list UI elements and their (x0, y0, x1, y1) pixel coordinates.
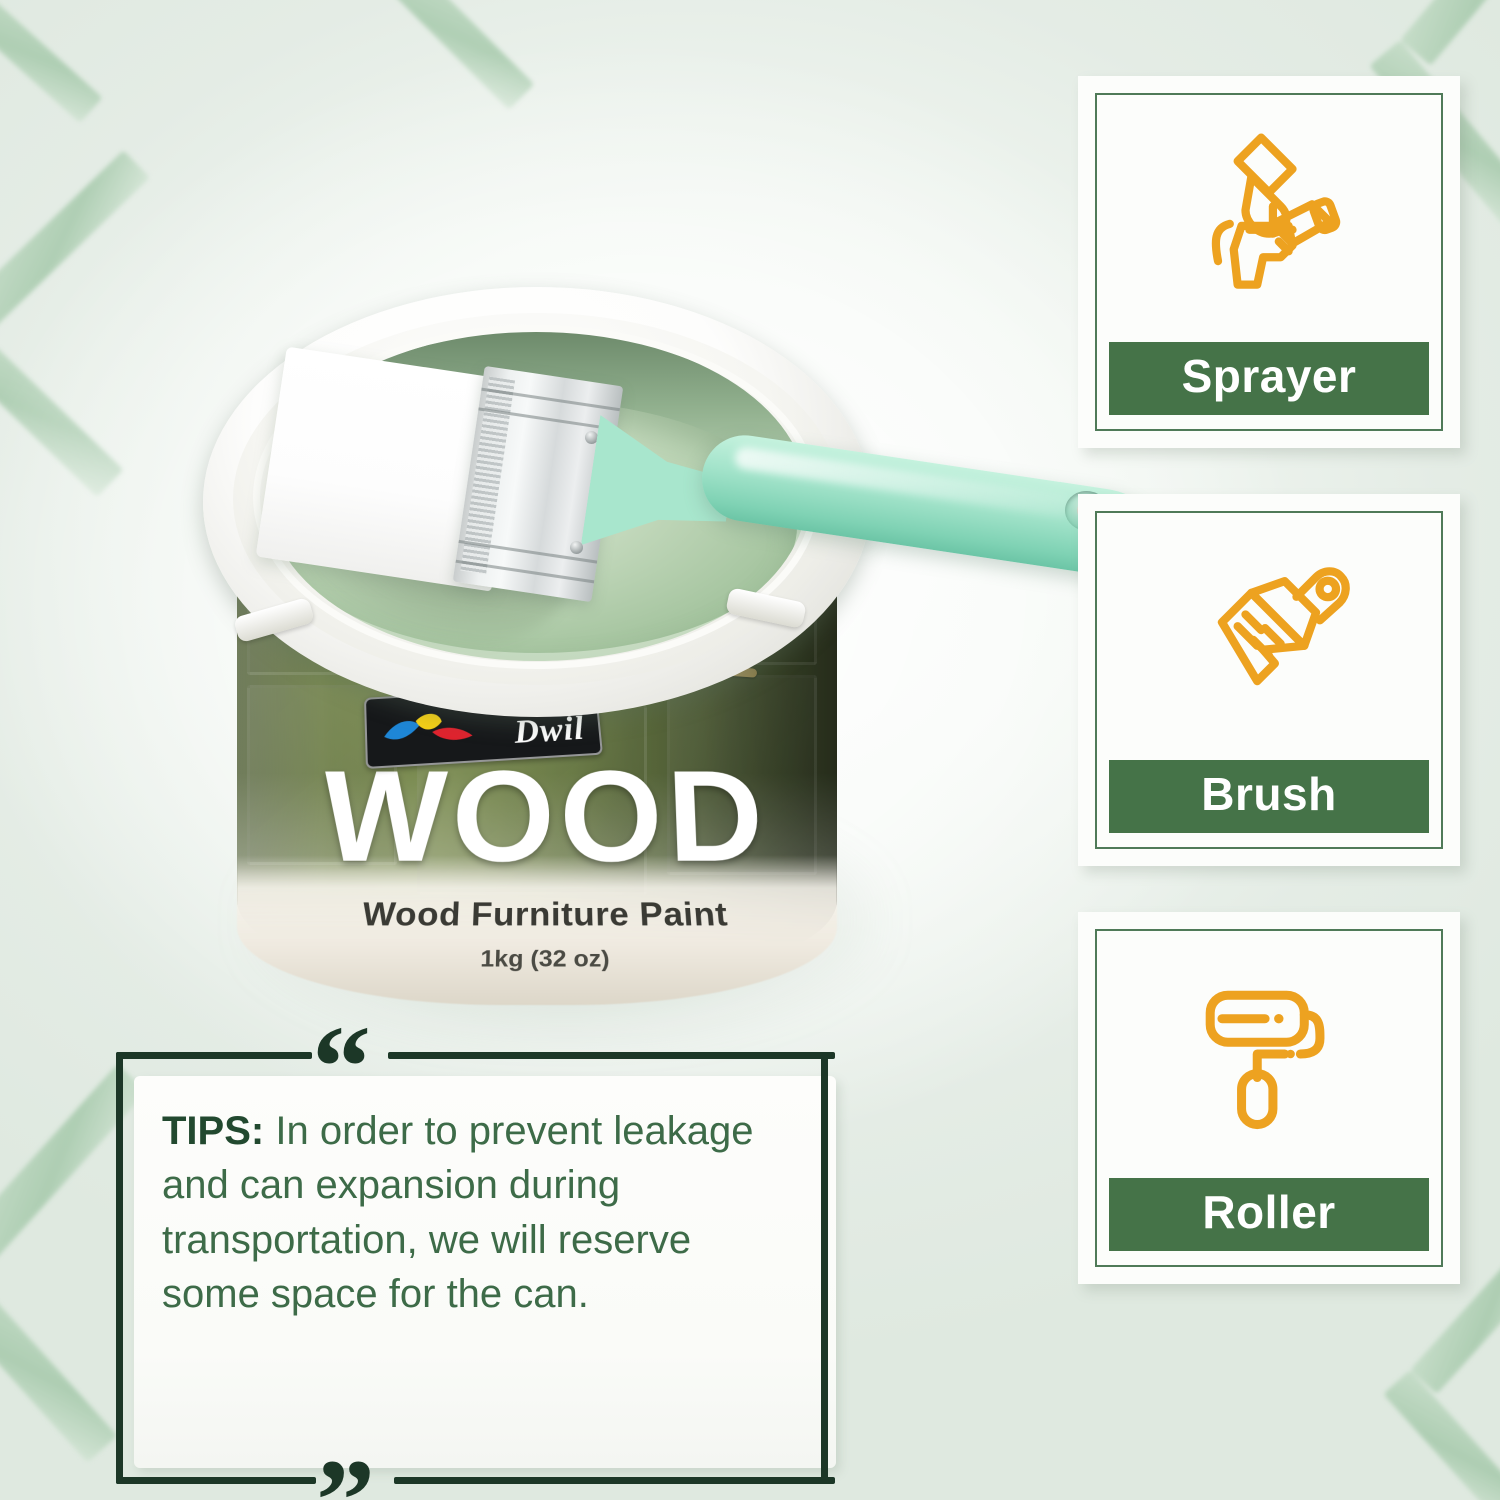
paint-brush-photo (270, 345, 1170, 665)
product-subtitle: Wood Furniture Paint (171, 896, 918, 934)
paint-can-photo: WOOD Wood Furniture Paint 1kg (32 oz) Dw… (175, 155, 915, 1035)
product-size: 1kg (32 oz) (172, 946, 918, 973)
tool-card-label: Sprayer (1109, 342, 1429, 415)
brand-swoosh-icon (379, 705, 486, 757)
quote-close-mark: ” (316, 1442, 375, 1500)
product-title: WOOD (167, 743, 923, 891)
product-infographic: WOOD Wood Furniture Paint 1kg (32 oz) Dw… (0, 0, 1500, 1500)
tips-text: TIPS: In order to prevent leakage and ca… (162, 1104, 782, 1322)
tool-card-roller[interactable]: Roller (1078, 912, 1460, 1284)
tool-card-label: Roller (1109, 1178, 1429, 1251)
background-chevron-top-middle (390, 0, 690, 140)
tool-card-list: Sprayer (1078, 76, 1460, 1330)
tool-card-sprayer[interactable]: Sprayer (1078, 76, 1460, 448)
paint-roller-icon (1097, 931, 1441, 1178)
tool-card-label: Brush (1109, 760, 1429, 833)
background-chevron-bottom-right (1410, 1330, 1500, 1500)
spray-gun-icon (1097, 95, 1441, 342)
tips-callout: “ ” TIPS: In order to prevent leakage an… (116, 1042, 828, 1484)
tips-prefix: TIPS: (162, 1109, 264, 1153)
paint-brush-icon (1097, 513, 1441, 760)
tool-card-brush[interactable]: Brush (1078, 494, 1460, 866)
